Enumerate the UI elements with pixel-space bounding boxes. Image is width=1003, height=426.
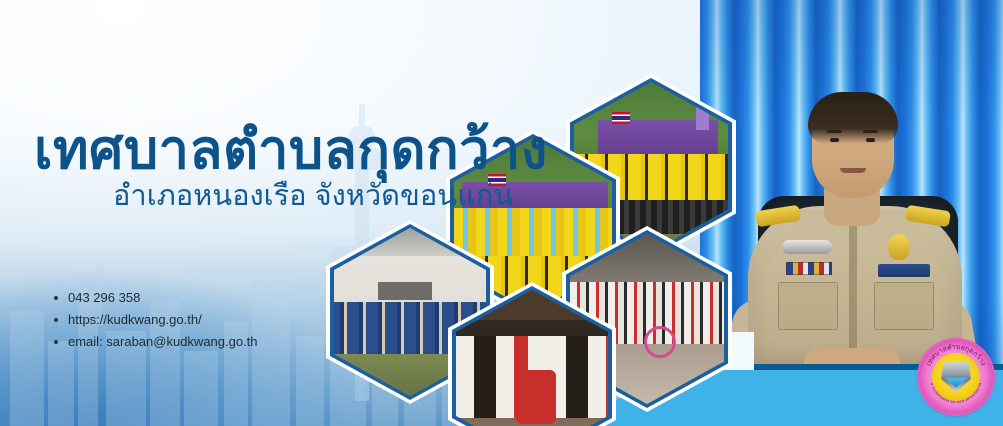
uniform-pocket-left <box>778 282 838 330</box>
contact-website[interactable]: https://kudkwang.go.th/ <box>52 309 258 331</box>
page-title: เทศบาลตำบลกุดกว้าง <box>34 122 548 178</box>
wing-badge-icon <box>782 240 832 254</box>
page-subtitle: อำเภอหนองเรือ จังหวัดขอนแก่น <box>113 181 513 213</box>
mouth <box>840 168 866 173</box>
eye-left <box>830 138 839 142</box>
eye-right <box>866 138 875 142</box>
contact-phone[interactable]: 043 296 358 <box>52 287 258 309</box>
photo-hex-bottom-center[interactable] <box>452 286 612 426</box>
service-ribbons <box>786 262 832 275</box>
eyebrow-left <box>827 130 842 133</box>
eyebrow-right <box>863 130 878 133</box>
uniform-pocket-right <box>874 282 934 330</box>
municipality-banner: เทศบาลตำบลกุดกว้าง อำเภอหนองเรือ จังหวัด… <box>0 0 1003 426</box>
crest-badge-icon <box>888 234 910 260</box>
contact-email[interactable]: email: saraban@kudkwang.go.th <box>52 331 258 353</box>
uniform-placket <box>849 218 857 368</box>
hair <box>808 92 898 144</box>
name-tag <box>878 264 930 277</box>
municipality-seal-logo[interactable]: เทศบาลตำบลกุดกว้าง อำเภอหนองเรือ จังหวัด… <box>919 340 993 414</box>
contact-list: 043 296 358 https://kudkwang.go.th/ emai… <box>52 287 258 353</box>
